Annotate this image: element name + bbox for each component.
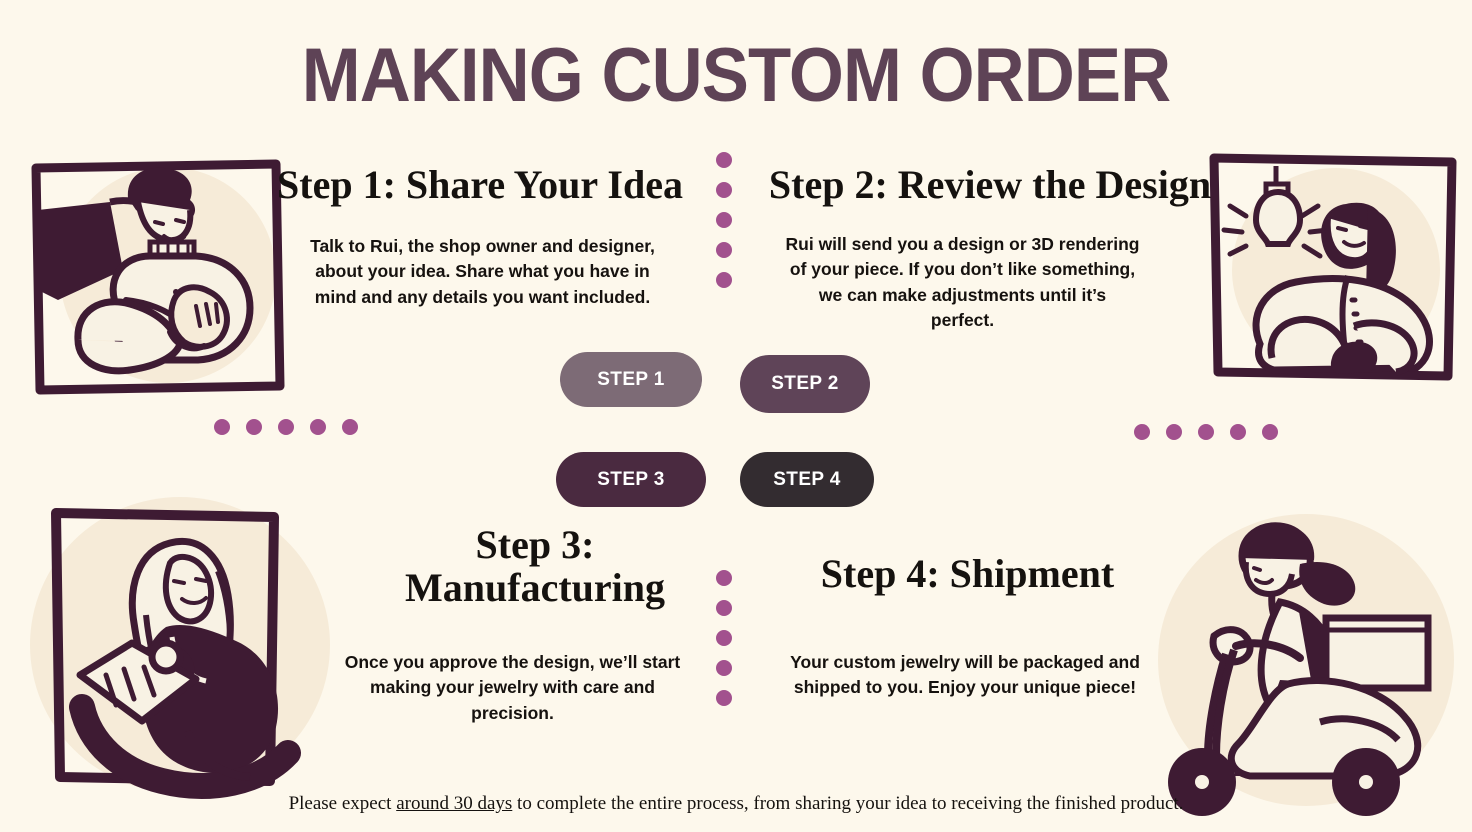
step-2-body: Rui will send you a design or 3D renderi… [785,232,1140,334]
dot [1166,424,1182,440]
divider-dots-top-center [716,152,732,288]
dot [716,272,732,288]
step-3-heading-line1: Step 3: [365,523,705,566]
dot [716,212,732,228]
step-3-heading-line2: Manufacturing [365,566,705,609]
dot [310,419,326,435]
dot [716,600,732,616]
delivery-scooter-illustration [1130,510,1472,825]
step-1-pill[interactable]: STEP 1 [560,352,702,407]
dot [214,419,230,435]
dot [1262,424,1278,440]
footer-suffix: to complete the entire process, from sha… [512,793,1183,814]
step-4-pill[interactable]: STEP 4 [740,452,874,507]
divider-dots-left [214,419,358,435]
step-1-heading: Step 1: Share Your Idea [255,163,705,206]
page-title: MAKING CUSTOM ORDER [52,32,1421,119]
footer-highlight: around 30 days [396,793,512,814]
step-2-pill[interactable]: STEP 2 [740,355,870,413]
dot [716,570,732,586]
divider-dots-right [1134,424,1278,440]
step-2-heading: Step 2: Review the Design [745,163,1235,206]
dot [1134,424,1150,440]
dot [716,630,732,646]
step-4-heading: Step 4: Shipment [780,552,1155,595]
step-3-body: Once you approve the design, we’ll start… [330,650,695,726]
artisan-crafting-illustration [20,495,340,820]
dot [1230,424,1246,440]
dot [1198,424,1214,440]
dot [278,419,294,435]
step-3-heading: Step 3: Manufacturing [365,523,705,609]
dot [716,690,732,706]
footer-prefix: Please expect [289,793,397,814]
dot [716,182,732,198]
dot [716,242,732,258]
divider-dots-bottom-center [716,570,732,706]
dot [246,419,262,435]
infographic-canvas: MAKING CUSTOM ORDER [0,0,1472,832]
dot [342,419,358,435]
step-1-body: Talk to Rui, the shop owner and designer… [295,234,670,310]
footer-note: Please expect around 30 days to complete… [0,793,1472,815]
person-with-lightbulb-illustration [1200,148,1472,388]
step-3-pill[interactable]: STEP 3 [556,452,706,507]
dot [716,660,732,676]
step-4-body: Your custom jewelry will be packaged and… [790,650,1140,701]
dot [716,152,732,168]
